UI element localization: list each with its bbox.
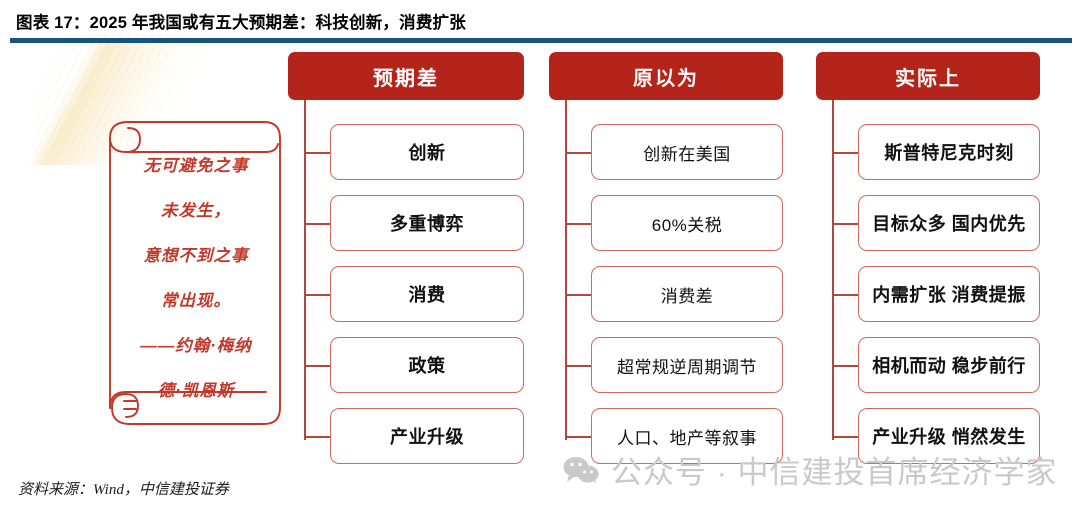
page-title: 图表 17：2025 年我国或有五大预期差：科技创新，消费扩张 — [16, 9, 466, 33]
connector-branch — [565, 436, 591, 438]
node-label: 内需扩张 消费提振 — [872, 281, 1026, 307]
node-previously-thought-4[interactable]: 超常规逆周期调节 — [591, 337, 783, 393]
connector-branch — [832, 436, 858, 438]
column-header-previously-thought[interactable]: 原以为 — [549, 52, 783, 100]
node-expectation-gap-1[interactable]: 创新 — [330, 124, 524, 180]
node-in-reality-4[interactable]: 相机而动 稳步前行 — [858, 337, 1040, 393]
node-label: 创新 — [409, 139, 446, 165]
node-label: 政策 — [409, 352, 446, 378]
node-label: 消费差 — [661, 282, 714, 307]
node-expectation-gap-5[interactable]: 产业升级 — [330, 408, 524, 464]
node-previously-thought-5[interactable]: 人口、地产等叙事 — [591, 408, 783, 464]
node-label: 产业升级 — [390, 423, 464, 449]
column-header-in-reality[interactable]: 实际上 — [816, 52, 1040, 100]
quote-attribution-line-2: 德·凯恩斯 — [158, 382, 235, 400]
connector-branch — [832, 365, 858, 367]
connector-branch — [304, 365, 330, 367]
connector-branch — [832, 152, 858, 154]
connector-trunk — [832, 100, 834, 440]
node-in-reality-5[interactable]: 产业升级 悄然发生 — [858, 408, 1040, 464]
node-in-reality-2[interactable]: 目标众多 国内优先 — [858, 195, 1040, 251]
quote-attribution-line-1: ——约翰·梅纳 — [140, 337, 252, 355]
connector-trunk — [304, 100, 306, 440]
connector-branch — [304, 223, 330, 225]
connector-branch — [565, 365, 591, 367]
node-label: 60%关税 — [652, 211, 723, 236]
connector-branch — [565, 152, 591, 154]
connector-branch — [304, 436, 330, 438]
quote-line-1: 无可避免之事 — [144, 157, 249, 175]
quote-line-4: 常出现。 — [161, 292, 231, 310]
node-previously-thought-1[interactable]: 创新在美国 — [591, 124, 783, 180]
quote-line-3: 意想不到之事 — [144, 247, 249, 265]
exhibit-canvas: 图表 17：2025 年我国或有五大预期差：科技创新，消费扩张 无可避免之事 未… — [0, 0, 1080, 511]
node-label: 相机而动 稳步前行 — [872, 352, 1026, 378]
connector-branch — [832, 223, 858, 225]
node-expectation-gap-2[interactable]: 多重博弈 — [330, 195, 524, 251]
connector-branch — [832, 294, 858, 296]
node-label: 斯普特尼克时刻 — [884, 139, 1014, 165]
source-note: 资料来源：Wind，中信建投证券 — [18, 478, 229, 499]
node-in-reality-1[interactable]: 斯普特尼克时刻 — [858, 124, 1040, 180]
node-label: 产业升级 悄然发生 — [872, 423, 1026, 449]
node-previously-thought-2[interactable]: 60%关税 — [591, 195, 783, 251]
connector-branch — [304, 152, 330, 154]
column-header-expectation-gap[interactable]: 预期差 — [288, 52, 524, 100]
quote-text: 无可避免之事 未发生， 意想不到之事 常出现。 ——约翰·梅纳 德·凯恩斯 — [120, 144, 272, 414]
node-label: 创新在美国 — [643, 140, 731, 165]
node-label: 目标众多 国内优先 — [872, 210, 1026, 236]
node-label: 多重博弈 — [390, 210, 464, 236]
node-previously-thought-3[interactable]: 消费差 — [591, 266, 783, 322]
title-divider — [10, 38, 1072, 43]
connector-trunk — [565, 100, 567, 440]
connector-branch — [565, 294, 591, 296]
node-expectation-gap-3[interactable]: 消费 — [330, 266, 524, 322]
quote-line-2: 未发生， — [161, 202, 231, 220]
node-label: 超常规逆周期调节 — [617, 353, 757, 378]
connector-branch — [565, 223, 591, 225]
node-in-reality-3[interactable]: 内需扩张 消费提振 — [858, 266, 1040, 322]
connector-branch — [304, 294, 330, 296]
node-label: 人口、地产等叙事 — [617, 424, 757, 449]
scroll-quote: 无可避免之事 未发生， 意想不到之事 常出现。 ——约翰·梅纳 德·凯恩斯 — [96, 108, 294, 448]
node-label: 消费 — [409, 281, 446, 307]
node-expectation-gap-4[interactable]: 政策 — [330, 337, 524, 393]
